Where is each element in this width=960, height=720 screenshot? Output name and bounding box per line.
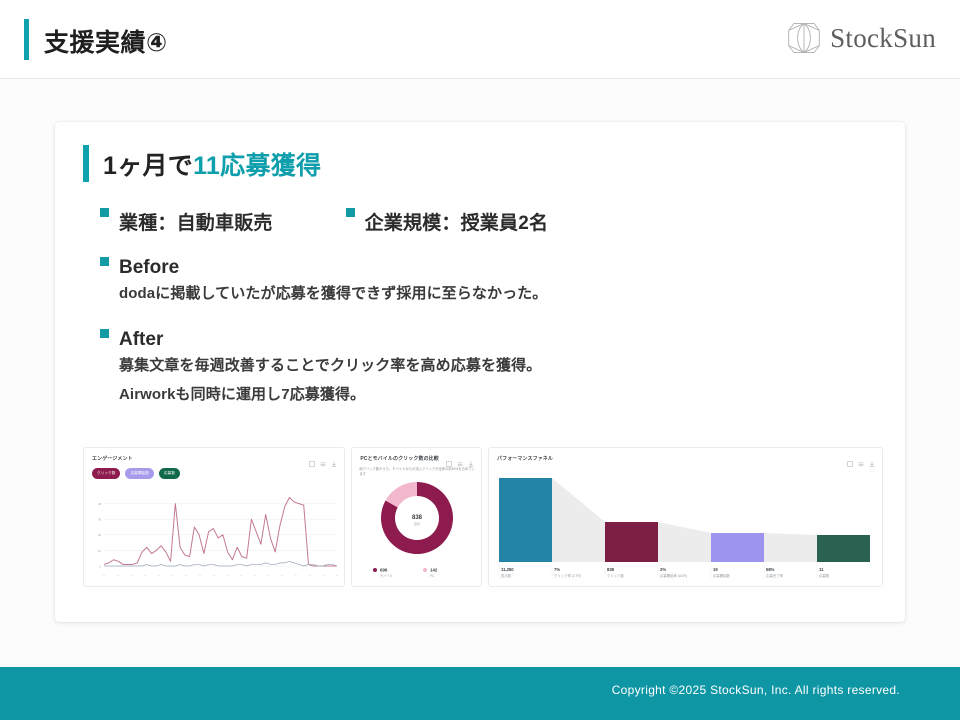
svg-text:—: — — [158, 574, 161, 577]
svg-text:—: — — [171, 574, 174, 577]
panel-funnel-title: パフォーマンスファネル — [497, 455, 553, 462]
svg-text:応募開始数: 応募開始数 — [713, 573, 731, 578]
svg-text:40: 40 — [98, 502, 101, 506]
engagement-line-chart: 010203040—————————————————— — [88, 484, 343, 580]
svg-text:—: — — [254, 574, 257, 577]
svg-text:142: 142 — [430, 568, 438, 573]
meta-company-size-label: 企業規模：授業員2名 — [365, 208, 549, 235]
svg-text:58%: 58% — [766, 567, 775, 572]
svg-text:—: — — [117, 574, 120, 577]
meta-item-industry: 業種：自動車販売 — [100, 208, 273, 235]
svg-text:—: — — [185, 574, 188, 577]
svg-text:—: — — [103, 574, 106, 577]
download-icon[interactable] — [468, 454, 474, 460]
download-icon[interactable] — [869, 454, 875, 460]
svg-text:696: 696 — [380, 568, 388, 573]
expand-icon[interactable] — [847, 454, 853, 460]
logo-wordmark: StockSun — [830, 23, 936, 54]
after-block: After 募集文章を毎週改善することでクリック率を高め応募を獲得。 Airwo… — [100, 329, 541, 410]
svg-text:モバイル: モバイル — [380, 574, 394, 578]
svg-text:—: — — [144, 574, 147, 577]
panel-device-icons — [446, 454, 474, 460]
svg-text:7%: 7% — [554, 567, 560, 572]
gem-polygon-icon — [787, 20, 821, 56]
lead-heading-text: 1ヶ月で11応募獲得 — [103, 146, 321, 182]
lead-accent-text: 11応募獲得 — [193, 152, 321, 180]
svg-text:—: — — [212, 574, 215, 577]
svg-text:2%: 2% — [660, 567, 666, 572]
menu-icon[interactable] — [858, 454, 864, 460]
svg-text:—: — — [336, 574, 339, 577]
menu-icon[interactable] — [457, 454, 463, 460]
after-line-2: Airworkも同時に運用し7応募獲得。 — [119, 380, 541, 409]
svg-text:11: 11 — [819, 567, 824, 572]
svg-text:クリック数: クリック数 — [607, 573, 625, 578]
svg-text:—: — — [130, 574, 133, 577]
svg-text:—: — — [295, 574, 298, 577]
before-heading: Before — [100, 257, 547, 279]
svg-text:11,250: 11,250 — [501, 567, 514, 572]
svg-text:合計: 合計 — [414, 521, 421, 526]
before-title: Before — [119, 257, 179, 279]
svg-text:表示数: 表示数 — [501, 573, 512, 578]
bullet-square-icon — [100, 257, 109, 266]
before-block: Before dodaに掲載していたが応募を獲得できず採用に至らなかった。 — [100, 257, 547, 308]
svg-text:—: — — [322, 574, 325, 577]
panel-engagement-title: エンゲージメント — [92, 455, 133, 462]
content-card: 1ヶ月で11応募獲得 業種：自動車販売 企業規模：授業員2名 Before do… — [55, 122, 905, 622]
svg-text:応募完了率: 応募完了率 — [766, 573, 784, 578]
bullet-square-icon — [346, 208, 355, 217]
meta-industry-label: 業種：自動車販売 — [119, 208, 273, 235]
panel-engagement: エンゲージメント クリック数 応募開始数 応募数 — [83, 447, 345, 587]
legend-chip-apply-starts[interactable]: 応募開始数 — [125, 468, 153, 479]
svg-text:838: 838 — [607, 567, 615, 572]
after-line-1: 募集文章を毎週改善することでクリック率を高め応募を獲得。 — [119, 351, 541, 380]
lead-heading: 1ヶ月で11応募獲得 — [83, 145, 321, 182]
lead-accent-bar — [83, 145, 89, 182]
before-line-1: dodaに掲載していたが応募を獲得できず採用に至らなかった。 — [119, 279, 547, 308]
copyright-text: Copyright ©2025 StockSun, Inc. All right… — [612, 683, 900, 697]
panel-device-title: PCとモバイルのクリック数の比較 — [360, 455, 439, 462]
slide-header: 支援実績④ StockSun — [0, 0, 960, 79]
bullet-square-icon — [100, 208, 109, 217]
download-icon[interactable] — [331, 454, 337, 460]
after-title: After — [119, 329, 163, 351]
legend-chip-applications[interactable]: 応募数 — [159, 468, 180, 479]
svg-text:—: — — [267, 574, 270, 577]
svg-text:—: — — [199, 574, 202, 577]
page-title: 支援実績④ — [44, 23, 168, 59]
lead-prefix: 1ヶ月で — [103, 152, 193, 180]
svg-text:応募数: 応募数 — [819, 573, 830, 578]
menu-icon[interactable] — [320, 454, 326, 460]
slide-footer: Copyright ©2025 StockSun, Inc. All right… — [0, 667, 960, 720]
meta-row: 業種：自動車販売 企業規模：授業員2名 — [100, 208, 548, 235]
dashboard-screenshot-strip: エンゲージメント クリック数 応募開始数 応募数 — [83, 447, 883, 587]
panel-performance-funnel: パフォーマンスファネル 11,250表示数7%クリック率 (CTR)838クリッ… — [488, 447, 883, 587]
svg-text:—: — — [240, 574, 243, 577]
performance-funnel-chart: 11,250表示数7%クリック率 (CTR)838クリック数2%応募開始率 (A… — [493, 462, 881, 584]
svg-text:0: 0 — [100, 564, 102, 568]
svg-text:20: 20 — [98, 533, 101, 537]
bullet-square-icon — [100, 329, 109, 338]
svg-text:838: 838 — [412, 515, 423, 521]
device-donut-chart: 838合計696モバイル142PC — [352, 466, 482, 586]
expand-icon[interactable] — [309, 454, 315, 460]
svg-text:クリック率 (CTR): クリック率 (CTR) — [554, 573, 581, 578]
stocksun-logo: StockSun — [787, 20, 936, 56]
svg-text:—: — — [308, 574, 311, 577]
after-heading: After — [100, 329, 541, 351]
svg-text:—: — — [226, 574, 229, 577]
svg-text:応募開始率 (ASR): 応募開始率 (ASR) — [660, 573, 687, 578]
legend-chip-clicks[interactable]: クリック数 — [92, 468, 120, 479]
expand-icon[interactable] — [446, 454, 452, 460]
panel-engagement-icons — [309, 454, 337, 460]
meta-item-company-size: 企業規模：授業員2名 — [346, 208, 549, 235]
header-accent-bar — [24, 19, 29, 60]
panel-device-comparison: PCとモバイルのクリック数の比較 総クリック数のうち、モバイルからの流入クリック… — [351, 447, 482, 587]
panel-funnel-icons — [847, 454, 875, 460]
slide: 支援実績④ StockSun 1ヶ月で11応募獲得 — [0, 0, 960, 720]
svg-text:—: — — [281, 574, 284, 577]
svg-text:PC: PC — [430, 574, 435, 578]
panel-engagement-legend-chips: クリック数 応募開始数 応募数 — [92, 468, 180, 479]
svg-text:10: 10 — [98, 549, 101, 553]
svg-text:30: 30 — [98, 518, 101, 522]
svg-text:19: 19 — [713, 567, 718, 572]
